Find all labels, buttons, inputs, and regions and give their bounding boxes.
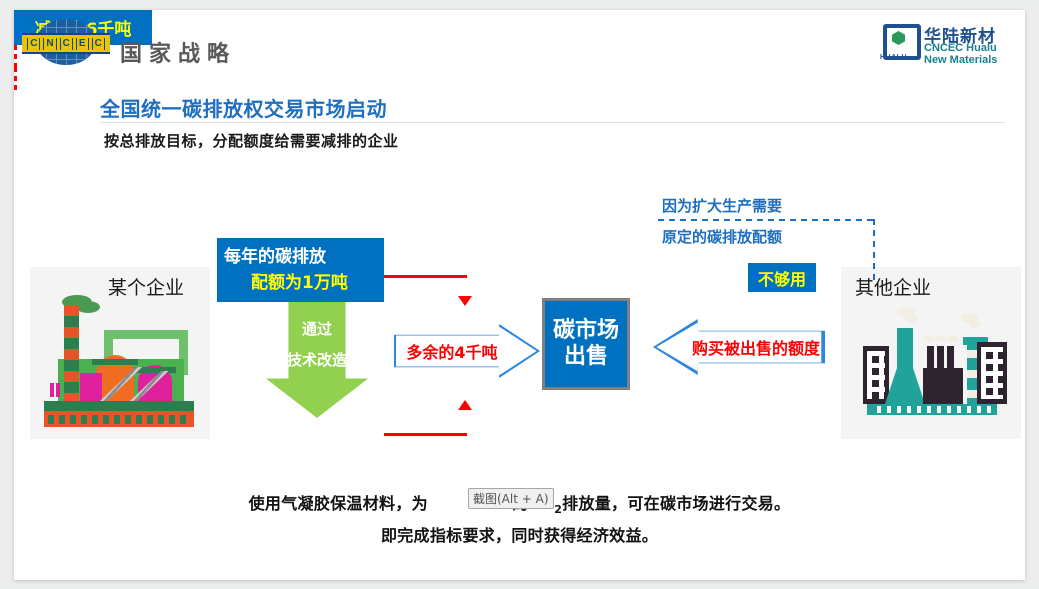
red-dotted-down bbox=[14, 45, 17, 67]
footer-line-2: 即完成指标要求，同时获得经济效益。 bbox=[14, 522, 1025, 546]
brand-slogan: 国家战略 bbox=[120, 36, 236, 68]
annual-quota-box: 每年的碳排放 配额为1万吨 bbox=[217, 238, 384, 302]
cncec-logo: CNCEC bbox=[22, 18, 110, 66]
dashed-connector-vertical bbox=[873, 219, 875, 281]
red-connector-bottom bbox=[384, 433, 467, 436]
cncec-letter-c2: C bbox=[60, 38, 73, 50]
green-arrow-line1: 通过 bbox=[266, 318, 368, 339]
cncec-letter-c3: C bbox=[92, 38, 105, 50]
purchase-arrow-label: 购买被出售的额度 bbox=[658, 335, 820, 359]
footer-line1-part-c: 排放量，可在碳市场进行交易。 bbox=[562, 494, 790, 513]
cncec-wordmark: CNCEC bbox=[22, 33, 110, 54]
dashed-connector-horizontal bbox=[658, 219, 875, 221]
cncec-letter-e: E bbox=[76, 38, 89, 50]
carbon-market-line1: 碳市场 bbox=[553, 318, 619, 344]
red-connector-top bbox=[384, 275, 467, 278]
slide-canvas: CNCEC 国家战略 HUALU 华陆新材 CNCEC Hualu New Ma… bbox=[14, 10, 1025, 580]
technology-upgrade-arrow: 通过 技术改造 bbox=[266, 302, 368, 418]
title-divider bbox=[100, 122, 1005, 123]
hualu-mark-icon: HUALU bbox=[880, 24, 916, 56]
page-title: 全国统一碳排放权交易市场启动 bbox=[100, 93, 387, 122]
hualu-en-line1: CNCEC Hualu bbox=[924, 42, 997, 54]
surplus-arrow: 多余的4千吨 bbox=[394, 324, 540, 378]
footer-line1-subscript: 2 bbox=[554, 503, 562, 516]
cncec-letter-c: C bbox=[27, 38, 40, 50]
original-quota-label: 原定的碳排放配额 bbox=[662, 226, 782, 247]
not-enough-badge: 不够用 bbox=[748, 263, 816, 292]
factory-illustration-left bbox=[42, 295, 198, 427]
carbon-market-line2: 出售 bbox=[564, 344, 608, 370]
red-arrowhead-up-icon bbox=[458, 400, 472, 410]
hualu-en-line2: New Materials bbox=[924, 54, 997, 66]
footer-line1-part-a: 使用气凝胶保温材料，为 bbox=[249, 494, 428, 513]
factory-illustration-right bbox=[857, 305, 1007, 415]
annual-quota-line1: 每年的碳排放 bbox=[217, 244, 384, 270]
hualu-logo: HUALU 华陆新材 CNCEC Hualu New Materials bbox=[880, 22, 1015, 68]
annual-quota-line2: 配额为1万吨 bbox=[217, 270, 384, 296]
surplus-arrow-label: 多余的4千吨 bbox=[406, 339, 527, 363]
red-arrowhead-down-icon bbox=[458, 296, 472, 306]
green-arrow-line2: 技术改造 bbox=[266, 349, 368, 370]
carbon-market-box: 碳市场 出售 bbox=[542, 298, 630, 390]
page-subtitle: 按总排放目标，分配额度给需要减排的企业 bbox=[104, 130, 399, 151]
left-company-image: 某个企业 bbox=[30, 267, 210, 439]
screenshot-tooltip: 截图(Alt + A) bbox=[468, 488, 554, 509]
right-company-caption: 其他企业 bbox=[855, 273, 931, 300]
hualu-mark-label: HUALU bbox=[880, 54, 907, 61]
red-dotted-up bbox=[14, 67, 17, 93]
purchase-arrow: 购买被出售的额度 bbox=[653, 319, 825, 375]
cncec-letter-n: N bbox=[43, 38, 56, 50]
right-company-image: 其他企业 bbox=[841, 267, 1021, 439]
expand-production-label: 因为扩大生产需要 bbox=[662, 195, 782, 216]
